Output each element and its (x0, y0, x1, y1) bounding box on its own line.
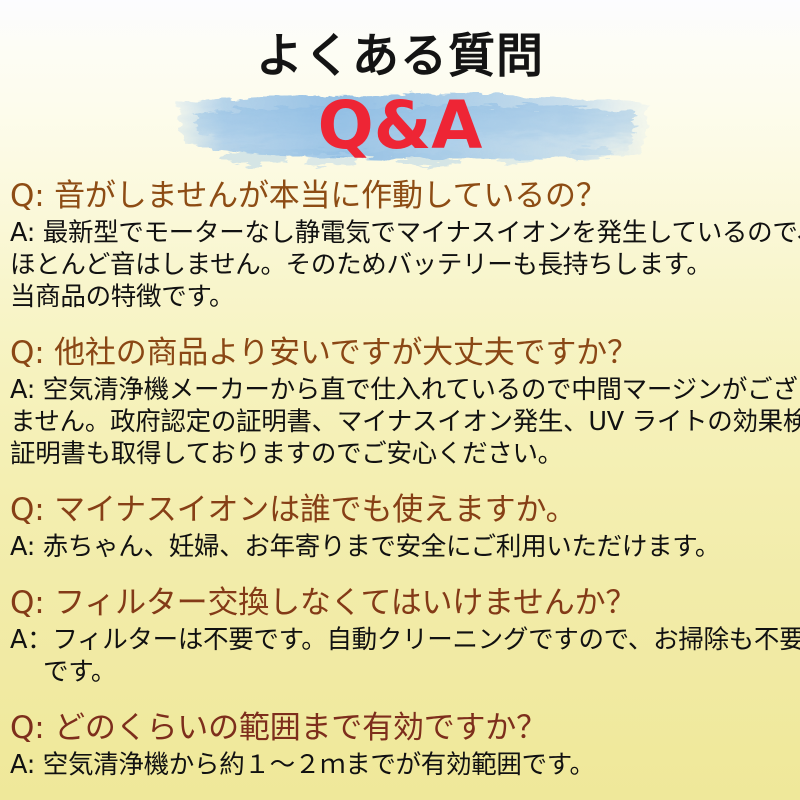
faq-item: Q: 他社の商品より安いですが大丈夫ですか？A: 空気清浄機メーカーから直で仕入… (10, 335, 792, 470)
faq-item: Q: フィルター交換しなくてはいけませんか？A：フィルターは不要です。自動クリー… (10, 585, 792, 688)
faq-question: Q: 音がしませんが本当に作動しているの？ (10, 178, 792, 216)
qa-heading: Q&A (0, 93, 800, 159)
faq-answer: A: 空気清浄機メーカーから直で仕入れているので中間マージンがございません。政府… (10, 374, 792, 470)
faq-item: Q: マイナスイオンは誰でも使えますか。A: 赤ちゃん、妊婦、お年寄りまで安全に… (10, 492, 792, 563)
faq-item: Q: 音がしませんが本当に作動しているの？A: 最新型でモーターなし静電気でマイ… (10, 178, 792, 313)
faq-list: Q: 音がしませんが本当に作動しているの？A: 最新型でモーターなし静電気でマイ… (0, 178, 800, 781)
faq-answer-line: A: 空気清浄機メーカーから直で仕入れているので中間マージンがござい (10, 374, 792, 406)
faq-answer: A: 空気清浄機から約１～２ｍまでが有効範囲です。 (10, 749, 792, 781)
faq-question: Q: 他社の商品より安いですが大丈夫ですか？ (10, 335, 792, 373)
faq-question: Q: フィルター交換しなくてはいけませんか？ (10, 585, 792, 623)
faq-question: Q: マイナスイオンは誰でも使えますか。 (10, 492, 792, 530)
faq-answer-line: 証明書も取得しておりますのでご安心ください。 (10, 438, 792, 470)
faq-answer-line: A：フィルターは不要です。自動クリーニングですので、お掃除も不要 (10, 624, 792, 656)
faq-answer-line: 当商品の特徴です。 (10, 281, 792, 313)
faq-answer-line: ほとんど音はしません。そのためバッテリーも長持ちします。 (10, 249, 792, 281)
faq-answer: A: 赤ちゃん、妊婦、お年寄りまで安全にご利用いただけます。 (10, 531, 792, 563)
faq-answer: A：フィルターは不要です。自動クリーニングですので、お掃除も不要です。 (10, 624, 792, 688)
faq-answer: A: 最新型でモーターなし静電気でマイナスイオンを発生しているので、ほとんど音は… (10, 217, 792, 313)
faq-item: Q: どのくらいの範囲まで有効ですか？A: 空気清浄機から約１～２ｍまでが有効範… (10, 710, 792, 781)
faq-answer-line: ません。政府認定の証明書、マイナスイオン発生、UV ライトの効果検査 (10, 406, 792, 438)
faq-answer-line: A: 赤ちゃん、妊婦、お年寄りまで安全にご利用いただけます。 (10, 531, 792, 563)
page-header: よくある質問 Q&A (0, 0, 800, 178)
faq-answer-line: A: 空気清浄機から約１～２ｍまでが有効範囲です。 (10, 749, 792, 781)
faq-answer-line: A: 最新型でモーターなし静電気でマイナスイオンを発生しているので、 (10, 217, 792, 249)
faq-page: よくある質問 Q&A Q: 音がしませんが本当に作動しているの？A: 最新型でモ… (0, 0, 800, 800)
faq-answer-line: です。 (10, 656, 792, 688)
faq-question: Q: どのくらいの範囲まで有効ですか？ (10, 710, 792, 748)
page-title: よくある質問 (0, 31, 800, 84)
